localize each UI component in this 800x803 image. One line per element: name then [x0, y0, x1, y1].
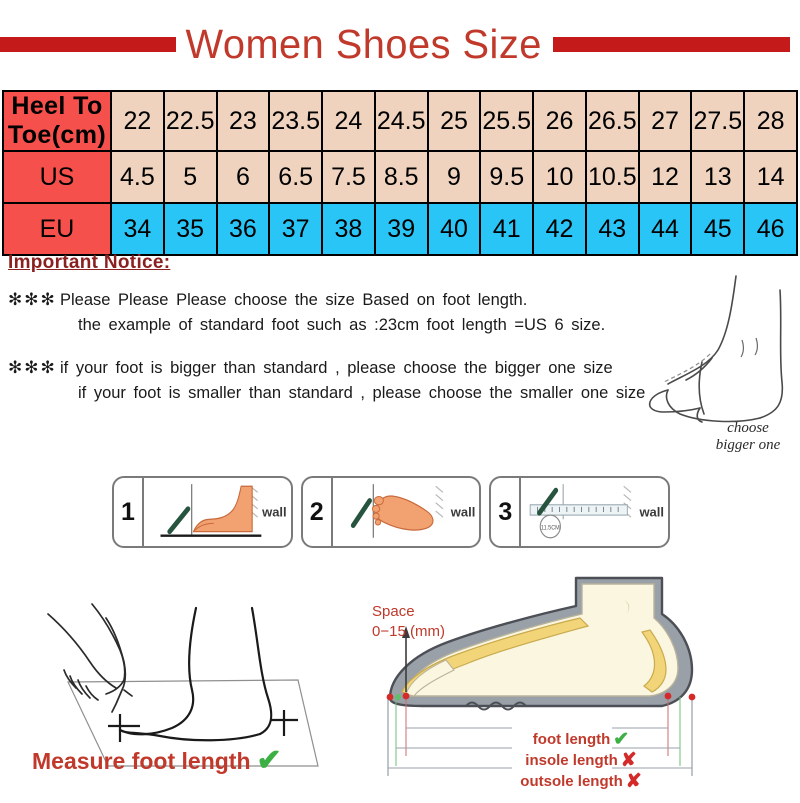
cell-eu-10: 44 [639, 203, 692, 255]
cell-cm-12: 28 [744, 91, 797, 151]
choose-bigger-line-1: choose [688, 420, 800, 437]
row-label-heel-to-toe: Heel To Toe(cm) [3, 91, 111, 151]
step-number-2: 2 [303, 478, 333, 546]
step-wall-label-3: wall [639, 505, 664, 520]
cell-us-4: 7.5 [322, 151, 375, 203]
cell-us-7: 9.5 [480, 151, 533, 203]
measuring-steps: 1 wall 2 [112, 476, 670, 548]
cell-cm-11: 27.5 [691, 91, 744, 151]
legend-row-outsole-length: outsole length ✘ [362, 771, 800, 792]
cell-us-3: 6.5 [269, 151, 322, 203]
cell-eu-1: 35 [164, 203, 217, 255]
step-number-3: 3 [491, 478, 521, 546]
step-illustration-2: wall [333, 478, 480, 546]
cell-cm-0: 22 [111, 91, 164, 151]
cell-eu-6: 40 [428, 203, 481, 255]
shoe-measurement-legend: foot length ✔ insole length ✘ outsole le… [362, 729, 800, 792]
notice-bullet-stars-2: ✻✻✻ [8, 356, 60, 378]
notice-bullet-stars-1: ✻✻✻ [8, 288, 60, 310]
choose-bigger-line-2: bigger one [688, 437, 800, 454]
step-panel-3: 3 11.5CM [489, 476, 670, 548]
cell-cm-3: 23.5 [269, 91, 322, 151]
notice-1-line-2: the example of standard foot such as :23… [60, 313, 708, 338]
step-illustration-3: 11.5CM wall [521, 478, 668, 546]
row-label-us: US [3, 151, 111, 203]
legend-label-insole-length: insole length [525, 752, 618, 769]
space-label-line-2: 0−15 (mm) [372, 622, 445, 642]
shoe-cross-section-diagram: Space 0−15 (mm) foot length ✔ insole len… [362, 570, 800, 798]
table-row-heel-to-toe: Heel To Toe(cm) 22 22.5 23 23.5 24 24.5 … [3, 91, 797, 151]
cell-eu-8: 42 [533, 203, 586, 255]
cell-eu-2: 36 [217, 203, 270, 255]
cell-us-5: 8.5 [375, 151, 428, 203]
measure-foot-caption: Measure foot length ✔ [32, 746, 282, 776]
table-row-us: US 4.5 5 6 6.5 7.5 8.5 9 9.5 10 10.5 12 … [3, 151, 797, 203]
size-chart-table: Heel To Toe(cm) 22 22.5 23 23.5 24 24.5 … [2, 90, 798, 256]
table-row-eu: EU 34 35 36 37 38 39 40 41 42 43 44 45 4… [3, 203, 797, 255]
row-label-eu: EU [3, 203, 111, 255]
cell-us-8: 10 [533, 151, 586, 203]
step-panel-2: 2 wall [301, 476, 482, 548]
cell-cm-1: 22.5 [164, 91, 217, 151]
notice-block-1: ✻✻✻ Please Please Please choose the size… [8, 288, 708, 338]
cell-us-0: 4.5 [111, 151, 164, 203]
cell-eu-9: 43 [586, 203, 639, 255]
cell-cm-7: 25.5 [480, 91, 533, 151]
cell-us-12: 14 [744, 151, 797, 203]
notice-heading: Important Notice: [8, 252, 170, 274]
notice-1-line-1: Please Please Please choose the size Bas… [60, 288, 708, 313]
cell-eu-4: 38 [322, 203, 375, 255]
check-icon: ✔ [257, 746, 282, 776]
legend-label-outsole-length: outsole length [520, 773, 623, 790]
cell-cm-2: 23 [217, 91, 270, 151]
cell-cm-6: 25 [428, 91, 481, 151]
legend-row-insole-length: insole length ✘ [362, 750, 800, 771]
step-illustration-1: wall [144, 478, 291, 546]
important-notice-section: Important Notice: ✻✻✻ Please Please Plea… [8, 252, 708, 424]
notice-2-line-2: if your foot is smaller than standard , … [60, 381, 708, 406]
notice-block-2: ✻✻✻ if your foot is bigger than standard… [8, 356, 708, 406]
step-wall-label-2: wall [451, 505, 476, 520]
cell-us-6: 9 [428, 151, 481, 203]
space-gap-label: Space 0−15 (mm) [372, 602, 445, 642]
space-label-line-1: Space [372, 602, 445, 622]
cell-eu-11: 45 [691, 203, 744, 255]
cell-cm-10: 27 [639, 91, 692, 151]
notice-2-line-1: if your foot is bigger than standard , p… [60, 356, 708, 381]
cell-eu-12: 46 [744, 203, 797, 255]
title-rule-left [0, 37, 176, 52]
legend-row-foot-length: foot length ✔ [362, 729, 800, 750]
measure-caption-text: Measure foot length [32, 748, 251, 775]
step-number-1: 1 [114, 478, 144, 546]
step-wall-label-1: wall [262, 505, 287, 520]
cell-cm-9: 26.5 [586, 91, 639, 151]
choose-bigger-caption: choose bigger one [688, 420, 800, 454]
ruler-badge-text: 11.5CM [541, 525, 560, 531]
cell-eu-7: 41 [480, 203, 533, 255]
cell-eu-0: 34 [111, 203, 164, 255]
check-icon-foot-length: ✔ [613, 730, 629, 749]
cell-us-9: 10.5 [586, 151, 639, 203]
step-panel-1: 1 wall [112, 476, 293, 548]
cell-cm-4: 24 [322, 91, 375, 151]
cross-icon-insole-length: ✘ [621, 751, 637, 770]
measure-foot-illustration: Measure foot length ✔ [20, 570, 360, 790]
cell-eu-3: 37 [269, 203, 322, 255]
cell-us-11: 13 [691, 151, 744, 203]
title-rule-right [553, 37, 790, 52]
cell-cm-5: 24.5 [375, 91, 428, 151]
cell-us-1: 5 [164, 151, 217, 203]
cell-eu-5: 39 [375, 203, 428, 255]
cell-us-10: 12 [639, 151, 692, 203]
cross-icon-outsole-length: ✘ [626, 772, 642, 791]
cell-us-2: 6 [217, 151, 270, 203]
page-title: Women Shoes Size [182, 21, 548, 68]
cell-cm-8: 26 [533, 91, 586, 151]
page-title-bar: Women Shoes Size [0, 16, 800, 72]
legend-label-foot-length: foot length [533, 731, 610, 748]
